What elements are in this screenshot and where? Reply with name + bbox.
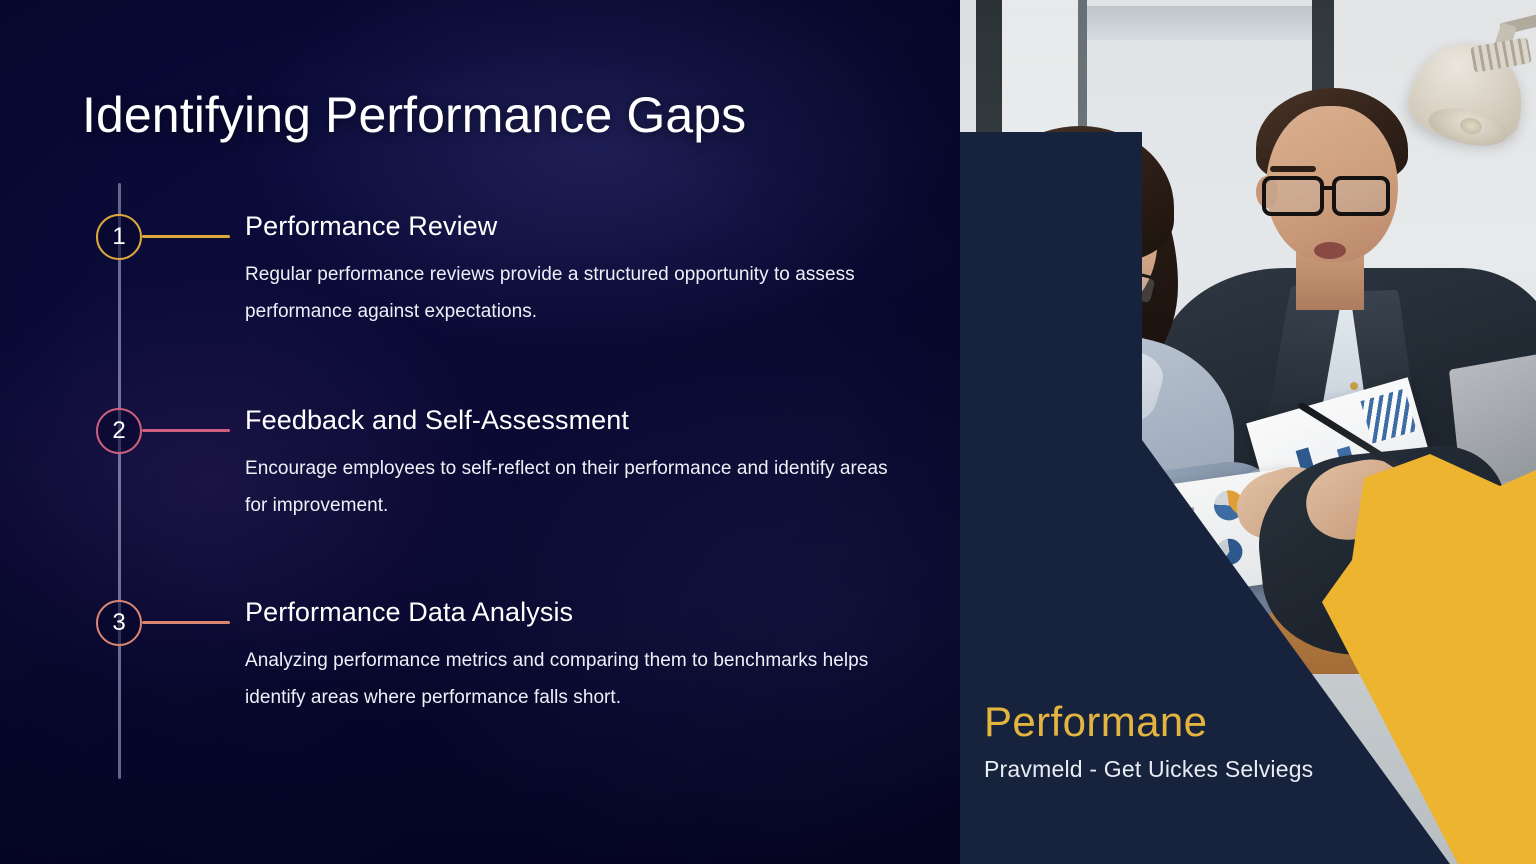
timeline-marker-3[interactable]: 3 [96,600,142,646]
timeline-heading-3: Performance Data Analysis [245,597,573,628]
timeline-connector-3 [142,621,230,624]
man-eyebrow [1270,166,1316,172]
timeline-marker-number-3: 3 [112,611,125,635]
timeline-heading-2: Feedback and Self-Assessment [245,405,629,436]
window-sky [1087,6,1312,40]
man-mouth [1314,242,1346,259]
timeline-heading-1: Performance Review [245,211,497,242]
brand-name: Performane [984,700,1313,744]
timeline-connector-1 [142,235,230,238]
timeline-connector-2 [142,429,230,432]
man-eyeglasses-left-lens [1262,176,1324,216]
timeline-body-1: Regular performance reviews provide a st… [245,256,915,330]
timeline-marker-1[interactable]: 1 [96,214,142,260]
timeline-body-2: Encourage employees to self-reflect on t… [245,450,915,524]
timeline-marker-2[interactable]: 2 [96,408,142,454]
printout-stripe-chart [1360,389,1416,444]
man-eyeglasses-right-lens [1332,176,1390,216]
timeline: 1 Performance Review Regular performance… [0,0,960,864]
brand-block: Performane Pravmeld - Get Uickes Selvieg… [984,700,1313,783]
slide-root: Identifying Performance Gaps 1 Performan… [0,0,1536,864]
timeline-marker-number-1: 1 [112,225,125,249]
man-shirt-button [1350,382,1358,390]
timeline-body-3: Analyzing performance metrics and compar… [245,642,915,716]
timeline-axis-line [118,183,121,779]
brand-tagline: Pravmeld - Get Uickes Selviegs [984,756,1313,783]
timeline-marker-number-2: 2 [112,419,125,443]
man-eyeglasses-bridge [1322,186,1336,190]
